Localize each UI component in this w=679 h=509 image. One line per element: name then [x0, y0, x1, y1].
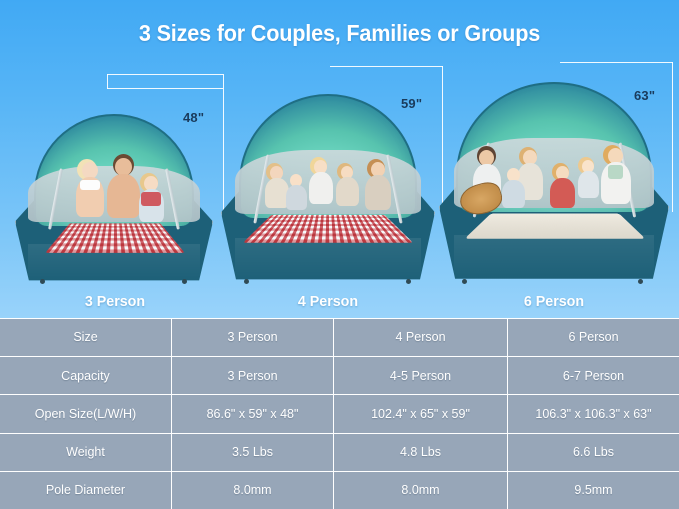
tent-stake	[406, 279, 411, 284]
tent-illustration-3-person	[14, 98, 214, 288]
row-label: Capacity	[0, 357, 172, 394]
cell-value: 8.0mm	[334, 472, 508, 509]
dimension-label-4-person: 59"	[401, 96, 422, 111]
product-comparison-infographic: 3 Sizes for Couples, Families or Groups	[0, 0, 679, 509]
tent-illustration-stage: 3 Person 48"	[0, 58, 679, 310]
tent-stake	[638, 279, 643, 284]
tent-stake	[182, 279, 187, 284]
measure-guide-line-top	[560, 62, 673, 63]
picnic-blanket	[243, 215, 413, 243]
row-label: Pole Diameter	[0, 472, 172, 509]
tent-stake	[244, 279, 249, 284]
measure-guide-line-bottom	[107, 88, 223, 89]
measure-guide-line-top	[107, 74, 223, 75]
cell-value: 3 Person	[172, 319, 334, 356]
page-title: 3 Sizes for Couples, Families or Groups	[20, 20, 658, 47]
specification-table: Size 3 Person 4 Person 6 Person Capacity…	[0, 318, 679, 509]
cell-value: 6-7 Person	[508, 357, 679, 394]
cell-value: 106.3" x 106.3" x 63"	[508, 395, 679, 432]
cell-value: 4.8 Lbs	[334, 434, 508, 471]
size-caption-6-person: 6 Person	[440, 293, 668, 310]
cell-value: 9.5mm	[508, 472, 679, 509]
cell-value: 8.0mm	[172, 472, 334, 509]
table-row: Open Size(L/W/H) 86.6" x 59" x 48" 102.4…	[0, 395, 679, 433]
floor-sheen	[235, 238, 422, 280]
table-row: Pole Diameter 8.0mm 8.0mm 9.5mm	[0, 472, 679, 509]
cell-value: 3 Person	[172, 357, 334, 394]
measure-guide-connector	[107, 74, 108, 89]
cell-value: 6 Person	[508, 319, 679, 356]
row-label: Open Size(L/W/H)	[0, 395, 172, 432]
cell-value: 4-5 Person	[334, 357, 508, 394]
measure-guide-vertical	[672, 62, 673, 212]
floor-sheen	[454, 235, 655, 281]
table-row: Capacity 3 Person 4-5 Person 6-7 Person	[0, 357, 679, 395]
size-caption-4-person: 4 Person	[220, 293, 437, 310]
picnic-blanket	[45, 223, 185, 253]
row-label: Weight	[0, 434, 172, 471]
dimension-label-3-person: 48"	[183, 110, 204, 125]
cell-value: 86.6" x 59" x 48"	[172, 395, 334, 432]
cell-value: 3.5 Lbs	[172, 434, 334, 471]
cell-value: 4 Person	[334, 319, 508, 356]
cell-value: 6.6 Lbs	[508, 434, 679, 471]
tent-stake	[462, 279, 467, 284]
table-row: Size 3 Person 4 Person 6 Person	[0, 319, 679, 357]
measure-guide-line-top	[330, 66, 443, 67]
row-label: Size	[0, 319, 172, 356]
size-caption-3-person: 3 Person	[11, 293, 218, 310]
table-row: Weight 3.5 Lbs 4.8 Lbs 6.6 Lbs	[0, 434, 679, 472]
title-bar: 3 Sizes for Couples, Families or Groups	[0, 0, 679, 58]
dimension-label-6-person: 63"	[634, 88, 655, 103]
tent-stake	[40, 279, 45, 284]
cell-value: 102.4" x 65" x 59"	[334, 395, 508, 432]
